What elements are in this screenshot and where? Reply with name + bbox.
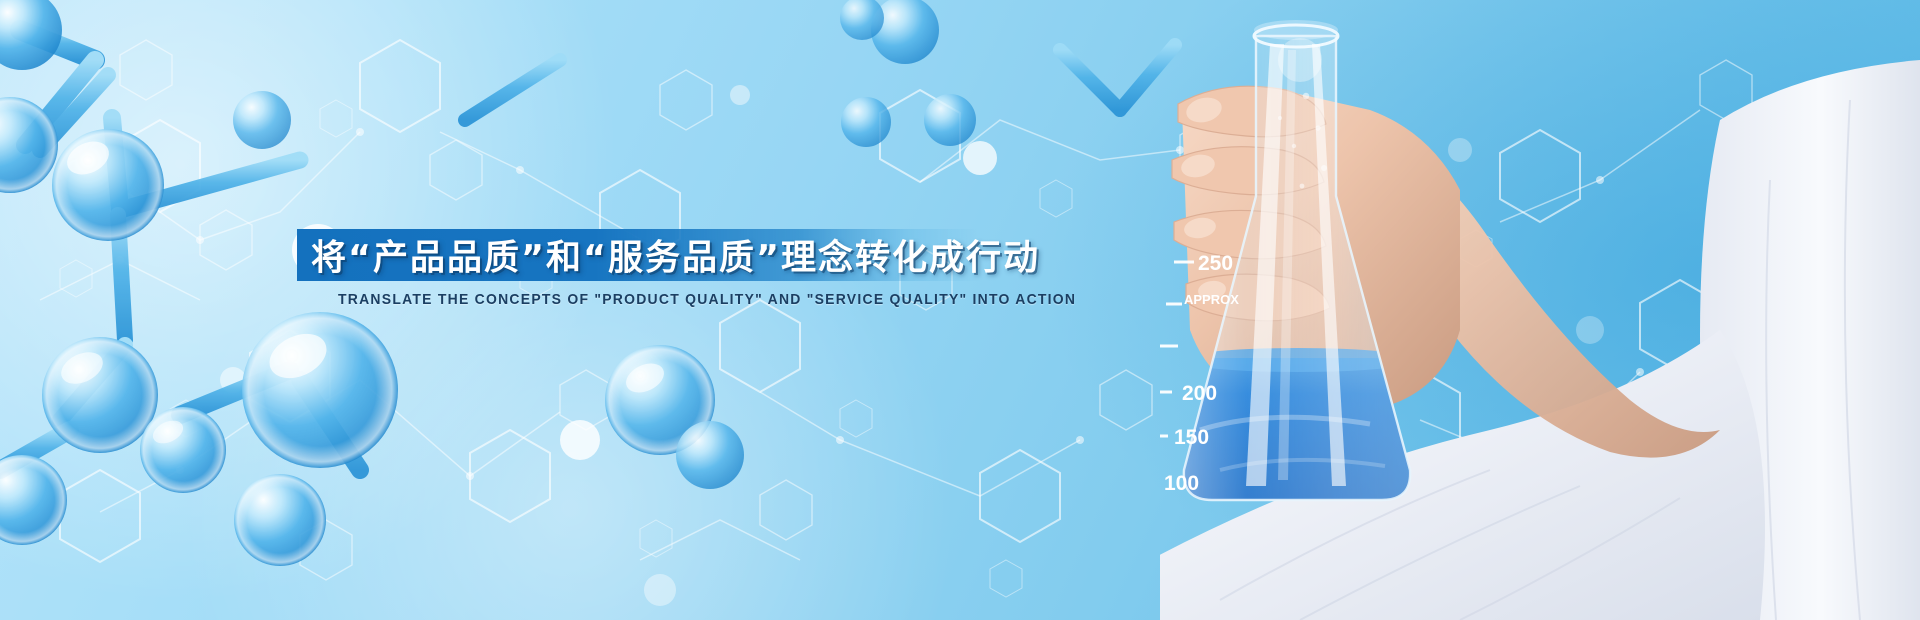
laboratory-quality-banner: 250 APPROX 200 150 100 将“产品品质”和“服务品质”理念转… xyxy=(0,0,1920,620)
graduation-label-200: 200 xyxy=(1182,382,1217,405)
background-glow-bottom xyxy=(120,260,1020,620)
headline-block: 将“产品品质”和“服务品质”理念转化成行动 TRANSLATE THE CONC… xyxy=(297,229,1297,281)
graduation-label-approx: APPROX xyxy=(1184,292,1239,307)
scientist-holding-flask-photo: 250 APPROX 200 150 100 xyxy=(1160,0,1920,620)
graduation-label-100: 100 xyxy=(1164,472,1199,495)
headline-blue-bar: 将“产品品质”和“服务品质”理念转化成行动 xyxy=(297,229,977,281)
page-title: 将“产品品质”和“服务品质”理念转化成行动 xyxy=(311,230,1040,281)
graduation-label-150: 150 xyxy=(1174,426,1209,449)
page-subtitle: TRANSLATE THE CONCEPTS OF "PRODUCT QUALI… xyxy=(338,291,1076,308)
